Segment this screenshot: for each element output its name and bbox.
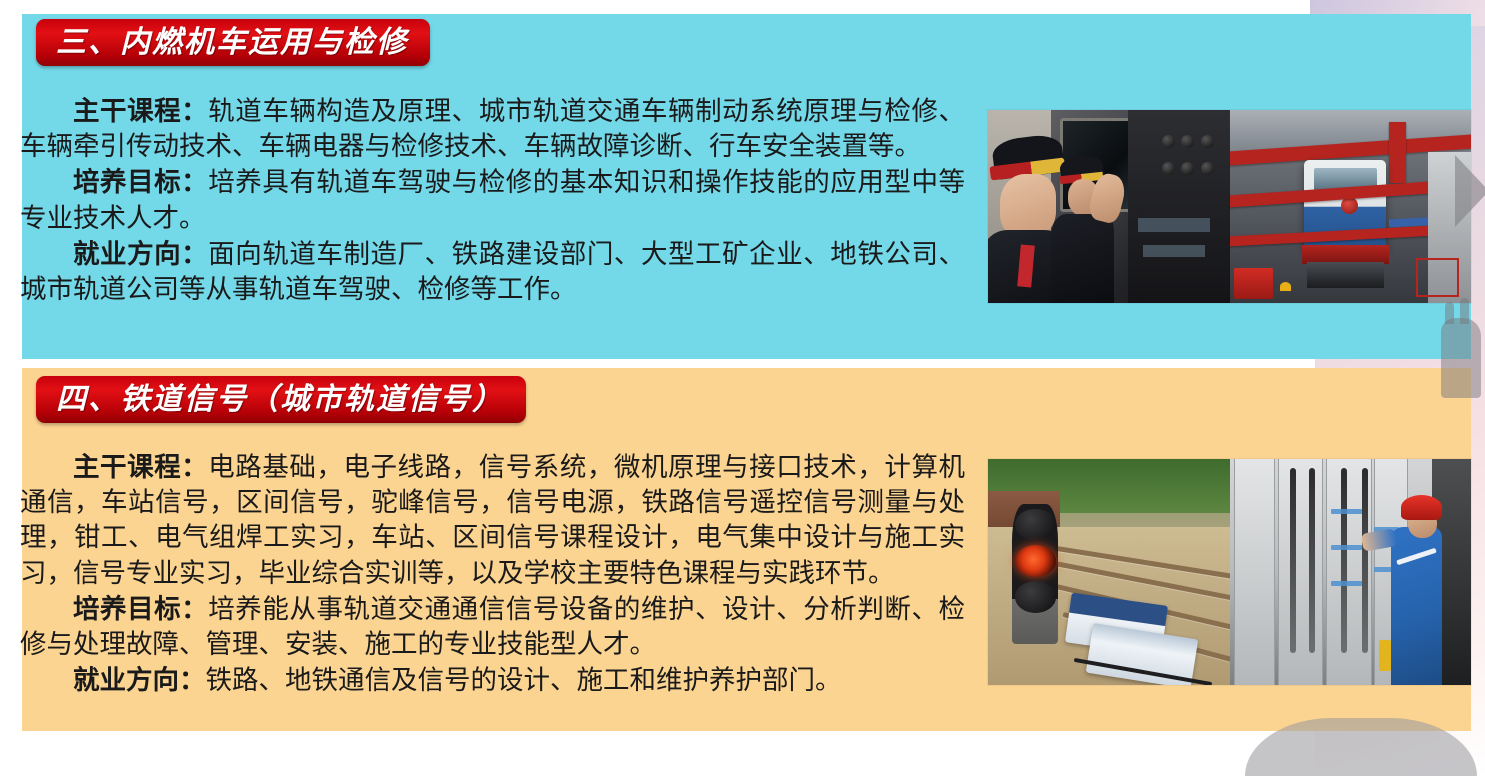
relay-rack-column — [1234, 459, 1275, 685]
paragraph-training-goal: 培养目标：培养能从事轨道交通通信信号设备的维护、设计、分析判断、检修与处理故障、… — [20, 592, 965, 662]
console-knob — [1162, 135, 1175, 148]
console-knob — [1162, 162, 1175, 175]
paragraph-lead-training-goal: 培养目标： — [73, 167, 208, 197]
paragraph-lead-employment: 就业方向： — [73, 665, 206, 695]
wire-bundle — [1290, 468, 1296, 653]
signal-lamp-green — [1015, 509, 1056, 541]
crew-face — [1000, 174, 1056, 238]
terminal-block — [1331, 509, 1362, 514]
paragraph-lead-training-goal: 培养目标： — [73, 594, 208, 624]
signal-lamp-red — [1015, 545, 1056, 577]
section-body-diesel-locomotive: 主干课程：轨道车辆构造及原理、城市轨道交通车辆制动系统原理与检修、车辆牵引传动技… — [20, 94, 965, 307]
depot-banner — [1234, 268, 1273, 299]
depot-red-column — [1389, 122, 1406, 184]
locomotive-underframe — [1307, 262, 1384, 287]
console-knob — [1201, 135, 1214, 148]
section-title-diesel-locomotive: 三、内燃机车运用与检修 — [56, 28, 408, 58]
paragraph-lead-main-courses: 主干课程： — [73, 452, 208, 482]
paragraph-main-courses: 主干课程：轨道车辆构造及原理、城市轨道交通车辆制动系统原理与检修、车辆牵引传动技… — [20, 94, 965, 164]
wire-bundle — [1309, 468, 1315, 653]
paragraph-main-courses: 主干课程：电路基础，电子线路，信号系统，微机原理与接口技术，计算机通信，车站信号… — [20, 450, 965, 591]
paragraph-employment: 就业方向：面向轨道车制造厂、铁路建设部门、大型工矿企业、地铁公司、城市轨道公司等… — [20, 237, 965, 307]
terminal-block — [1331, 545, 1362, 550]
section-banner-railway-signal: 四、铁道信号（城市轨道信号） — [36, 376, 526, 423]
locomotive-emblem — [1341, 197, 1358, 214]
terminal-block — [1331, 581, 1362, 586]
section-body-railway-signal: 主干课程：电路基础，电子线路，信号系统，微机原理与接口技术，计算机通信，车站信号… — [20, 450, 965, 699]
photo-trackside-signal — [988, 459, 1230, 685]
technician-tool — [1379, 640, 1391, 672]
photo-locomotive-depot — [1230, 110, 1472, 303]
technician-safety-helmet — [1401, 495, 1442, 520]
relay-rack-column — [1278, 459, 1323, 685]
photo-group-diesel-locomotive — [988, 110, 1471, 303]
photo-technician-relay-rack — [1230, 459, 1472, 685]
wire-bundle — [1341, 468, 1347, 653]
cab-console — [1128, 110, 1229, 303]
section-title-railway-signal: 四、铁道信号（城市轨道信号） — [56, 385, 504, 415]
hand-silhouette-icon — [1441, 318, 1481, 398]
wire-bundle — [1362, 468, 1368, 653]
console-knob — [1201, 162, 1214, 175]
paragraph-training-goal: 培养目标：培养具有轨道车驾驶与检修的基本知识和操作技能的应用型中等专业技术人才。 — [20, 165, 965, 235]
paragraph-text-employment: 铁路、地铁通信及信号的设计、施工和维护养护部门。 — [206, 665, 842, 695]
worker-helmet — [1280, 282, 1291, 291]
console-display — [1143, 245, 1206, 257]
photo-group-railway-signal — [988, 459, 1471, 685]
section-banner-diesel-locomotive: 三、内燃机车运用与检修 — [36, 19, 430, 66]
depot-ladder — [1416, 258, 1459, 297]
signal-lamp-yellow — [1015, 581, 1056, 613]
crew-uniform-second — [1051, 214, 1114, 303]
right-arrow-shadow-icon — [1455, 155, 1485, 227]
photo-train-crew-cab — [988, 110, 1230, 303]
paragraph-employment: 就业方向：铁路、地铁通信及信号的设计、施工和维护养护部门。 — [20, 663, 965, 698]
paragraph-lead-main-courses: 主干课程： — [73, 96, 208, 126]
console-display — [1138, 218, 1210, 232]
paragraph-lead-employment: 就业方向： — [73, 239, 208, 269]
slide-canvas: 三、内燃机车运用与检修 主干课程：轨道车辆构造及原理、城市轨道交通车辆制动系统原… — [0, 0, 1485, 776]
